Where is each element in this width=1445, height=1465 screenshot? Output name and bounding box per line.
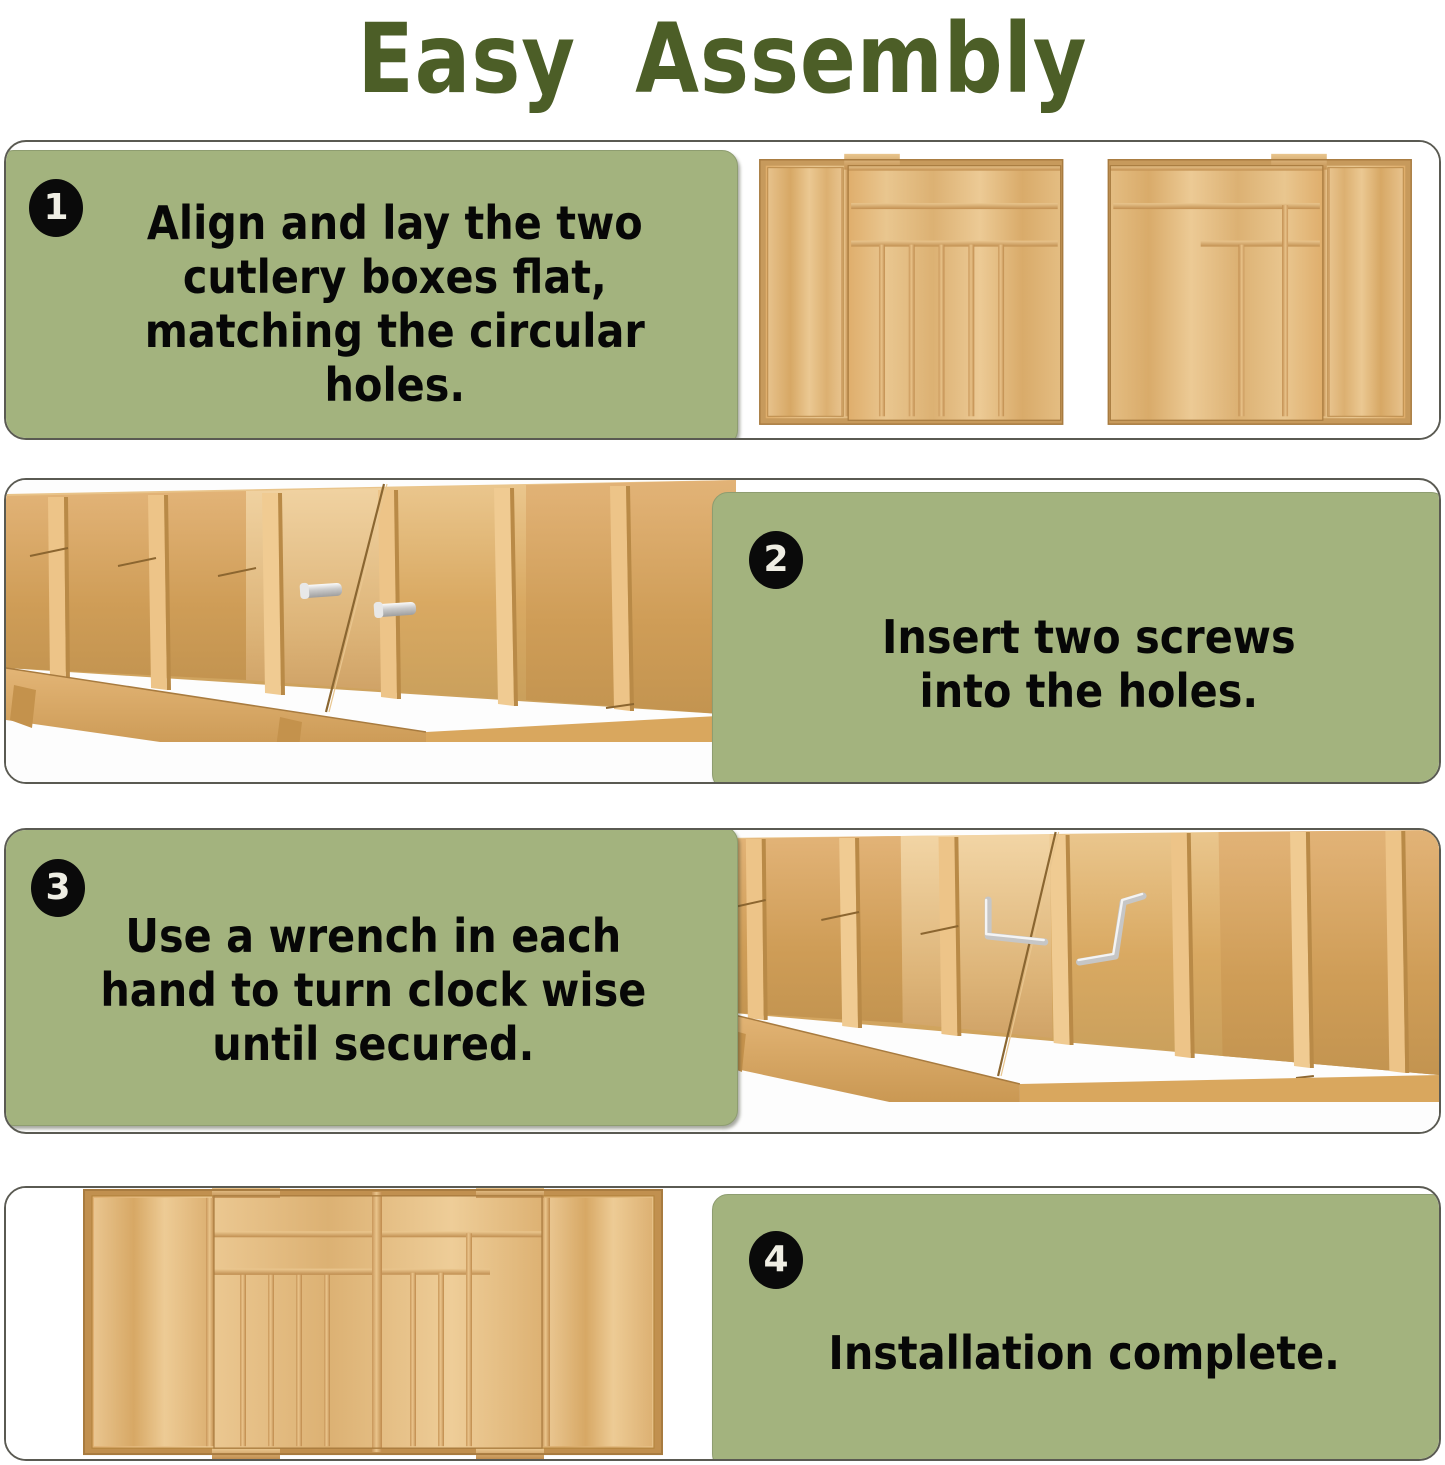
step-1-text-panel: 1 Align and lay the two cutlery boxes fl… (4, 150, 738, 440)
step-card-1: 1 Align and lay the two cutlery boxes fl… (4, 140, 1441, 440)
step-card-2: 2 Insert two screws into the holes. (4, 478, 1441, 784)
two-cutlery-boxes-illustration (732, 142, 1439, 438)
step-2-instruction: Insert two screws into the holes. (882, 611, 1296, 719)
step-3-instruction: Use a wrench in each hand to turn clock … (100, 910, 646, 1071)
page-title: Easy Assembly (357, 11, 1087, 107)
step-card-4: 4 Installation complete. (4, 1186, 1441, 1461)
step-3-badge: 3 (31, 859, 85, 917)
step-2-badge: 2 (749, 531, 803, 589)
step-1-photo (732, 142, 1439, 438)
step-4-text-panel: 4 Installation complete. (712, 1194, 1441, 1461)
step-1-instruction: Align and lay the two cutlery boxes flat… (145, 197, 645, 412)
step-4-instruction: Installation complete. (829, 1327, 1341, 1381)
step-3-photo (722, 830, 1439, 1132)
step-4-badge: 4 (749, 1231, 803, 1289)
allen-wrenches-illustration (722, 830, 1439, 1132)
step-1-badge: 1 (29, 179, 83, 237)
step-2-photo (6, 480, 736, 782)
step-card-3: 3 Use a wrench in each hand to turn cloc… (4, 828, 1441, 1134)
step-4-photo (6, 1188, 734, 1459)
step-2-text-panel: 2 Insert two screws into the holes. (712, 492, 1441, 784)
screws-inserted-illustration (6, 480, 736, 782)
assembled-organizer-illustration (6, 1188, 734, 1459)
page-header: Easy Assembly (0, 0, 1445, 118)
step-3-text-panel: 3 Use a wrench in each hand to turn cloc… (4, 828, 738, 1126)
